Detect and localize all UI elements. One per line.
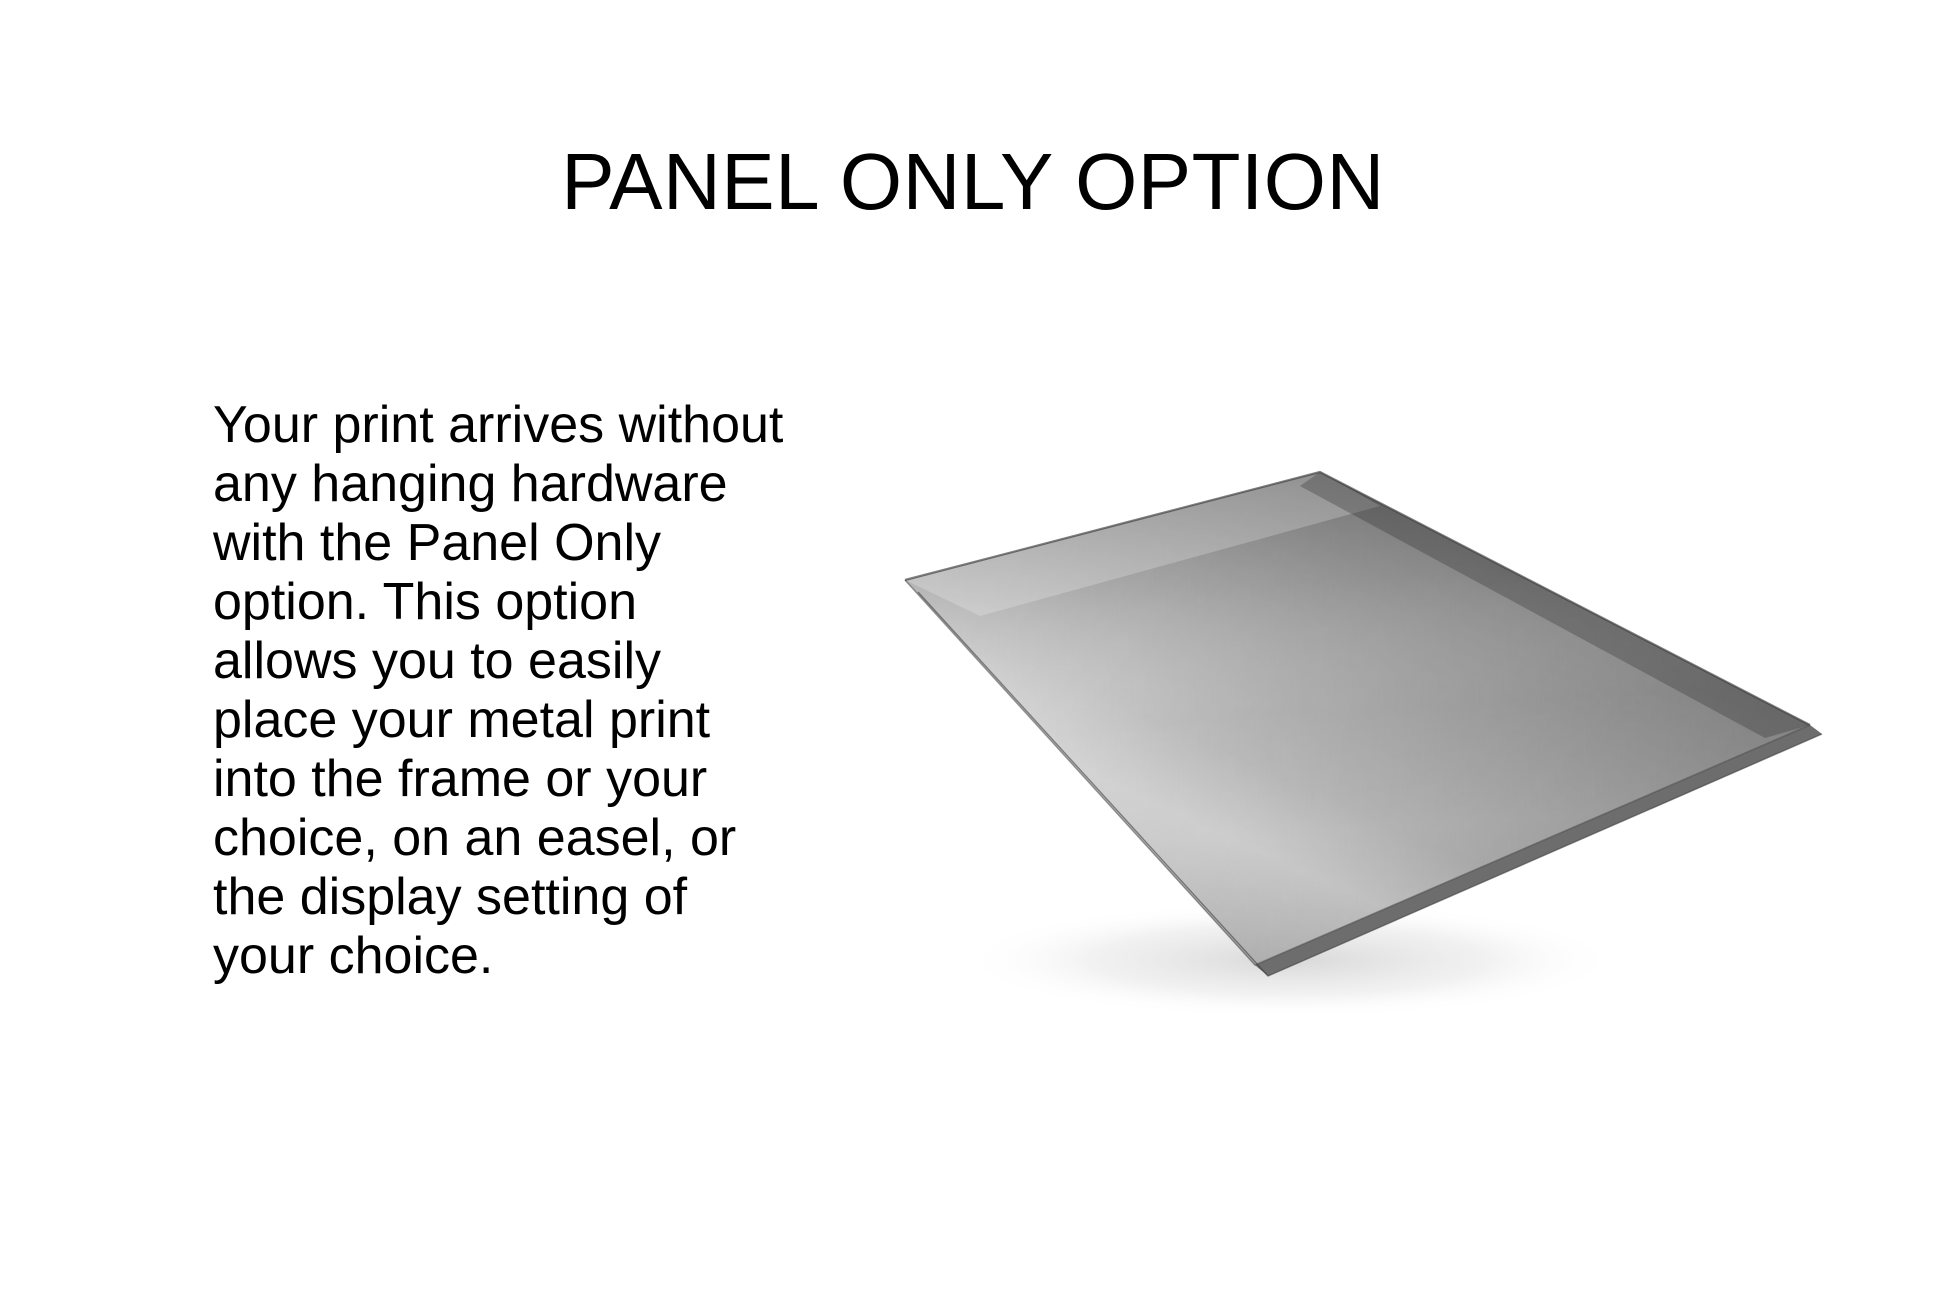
page-title: PANEL ONLY OPTION [0,142,1946,222]
body-paragraph: Your print arrives without any hanging h… [213,396,793,986]
metal-panel-photo [860,420,1870,1040]
presentation-slide: PANEL ONLY OPTION Your print arrives wit… [0,0,1946,1297]
metal-panel-illustration [860,420,1870,1040]
